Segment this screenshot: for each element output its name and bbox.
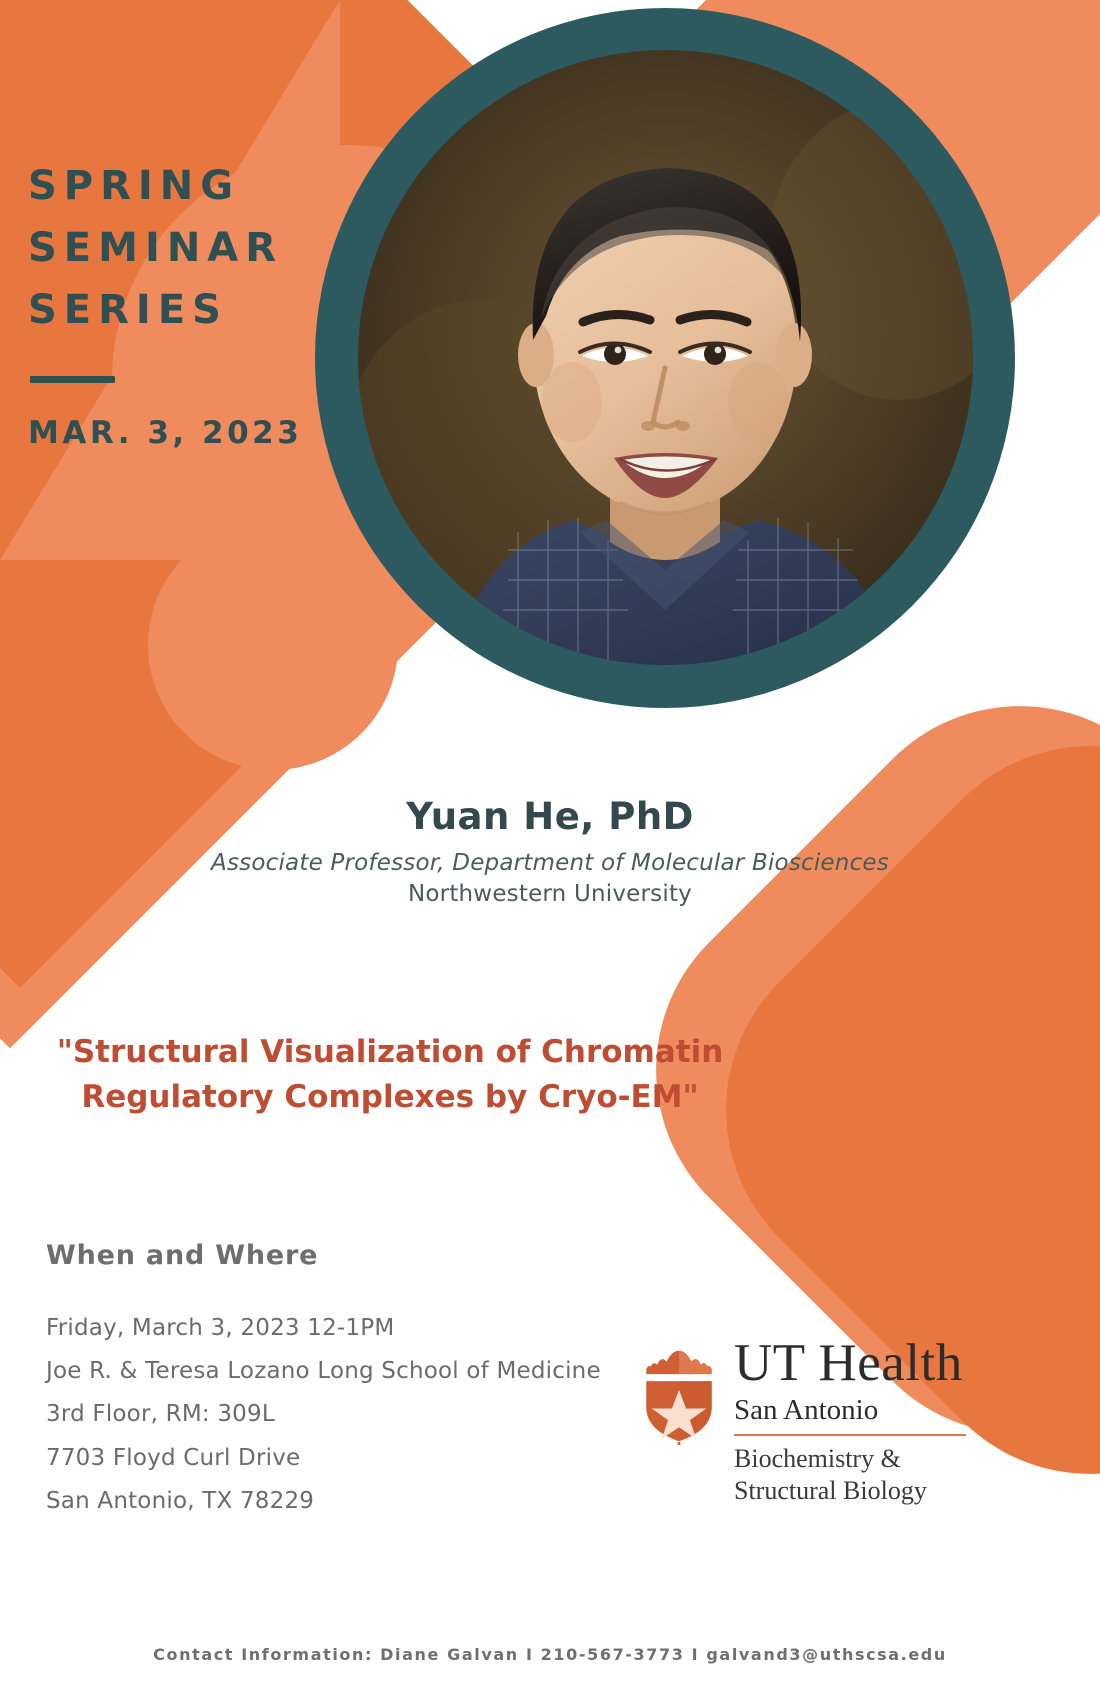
series-line-1: SPRING — [28, 155, 348, 217]
talk-title-line-1: "Structural Visualization of Chromatin — [40, 1030, 740, 1075]
logo-text-block: UT Health San Antonio Biochemistry & Str… — [734, 1338, 966, 1506]
speaker-info: Yuan He, PhD Associate Professor, Depart… — [0, 795, 1100, 907]
background-circle-orange-small — [148, 520, 398, 770]
series-line-2: SEMINAR — [28, 217, 348, 279]
poster-header: SPRING SEMINAR SERIES MAR. 3, 2023 — [28, 155, 348, 451]
seminar-poster: SPRING SEMINAR SERIES MAR. 3, 2023 Yuan … — [0, 0, 1100, 1700]
logo-name: UT Health — [734, 1338, 966, 1390]
when-and-where-line: 7703 Floyd Curl Drive — [46, 1437, 601, 1480]
speaker-portrait — [358, 50, 973, 665]
when-and-where-line: Friday, March 3, 2023 12-1PM — [46, 1307, 601, 1350]
speaker-organization: Northwestern University — [0, 881, 1100, 907]
when-and-where-line: San Antonio, TX 78229 — [46, 1480, 601, 1523]
seminar-date: MAR. 3, 2023 — [28, 415, 348, 451]
logo-department-line-2: Structural Biology — [734, 1475, 966, 1507]
logo-location: San Antonio — [734, 1394, 966, 1427]
when-and-where: When and Where Friday, March 3, 2023 12-… — [46, 1240, 601, 1523]
ut-health-logo: UT Health San Antonio Biochemistry & Str… — [640, 1338, 980, 1506]
logo-divider — [734, 1434, 966, 1436]
when-and-where-line: Joe R. & Teresa Lozano Long School of Me… — [46, 1350, 601, 1393]
speaker-name: Yuan He, PhD — [0, 795, 1100, 838]
shield-icon — [640, 1346, 718, 1451]
logo-department-line-1: Biochemistry & — [734, 1443, 966, 1475]
talk-title-line-2: Regulatory Complexes by Cryo-EM" — [40, 1075, 740, 1120]
series-line-3: SERIES — [28, 279, 348, 341]
speaker-role: Associate Professor, Department of Molec… — [0, 850, 1100, 876]
when-and-where-line: 3rd Floor, RM: 309L — [46, 1393, 601, 1436]
when-and-where-heading: When and Where — [46, 1240, 601, 1271]
header-divider — [30, 376, 115, 383]
contact-footer: Contact Information: Diane Galvan I 210-… — [0, 1645, 1100, 1664]
talk-title: "Structural Visualization of Chromatin R… — [40, 1030, 740, 1120]
